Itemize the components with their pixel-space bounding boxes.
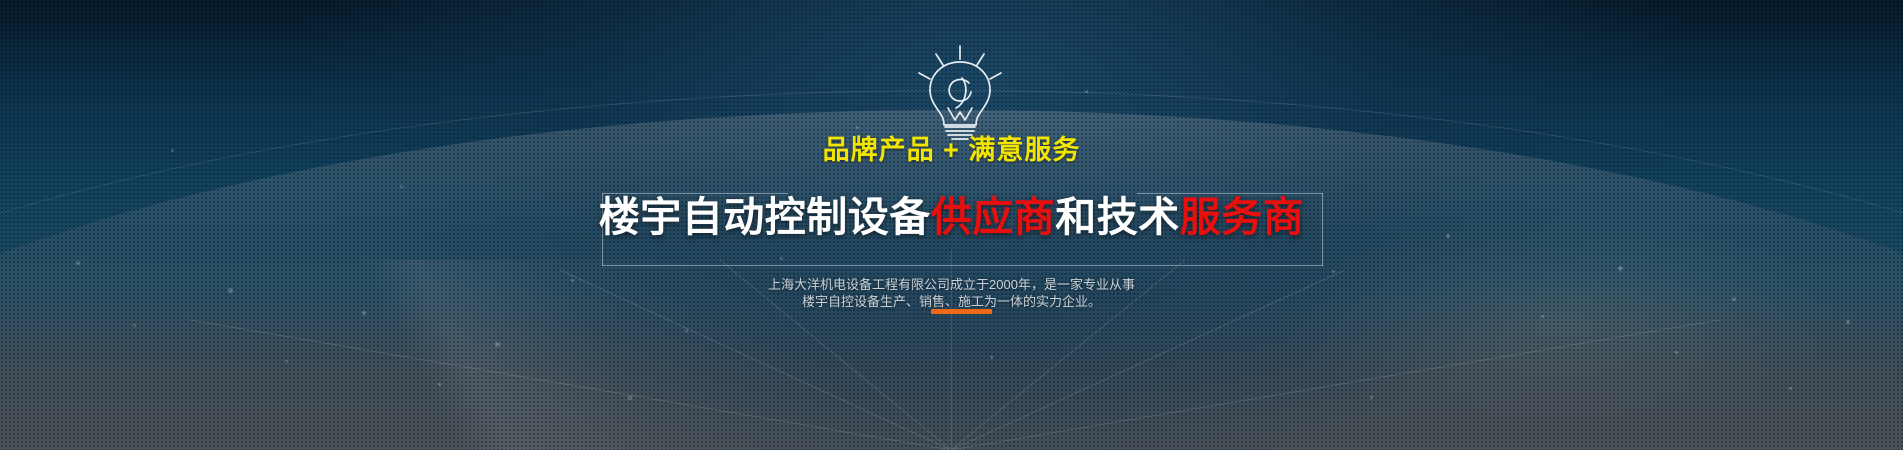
hero-banner: 品牌产品 + 满意服务 楼宇自动控制设备供应商和技术服务商 上海大洋机电设备工程… [0,0,1903,450]
banner-headline: 楼宇自动控制设备供应商和技术服务商 [0,197,1903,238]
headline-part-3: 和技术 [1055,194,1180,240]
headline-highlight-service: 服务商 [1180,194,1305,240]
description-line-2: 楼宇自控设备生产、销售、施工为一体的实力企业。 [0,293,1903,310]
banner-eyebrow-text: 品牌产品 + 满意服务 [0,137,1903,164]
lightbulb-idea-icon [901,42,1019,142]
frame-line-bottom [602,265,1323,266]
description-line-1: 上海大洋机电设备工程有限公司成立于2000年，是一家专业从事 [0,276,1903,293]
headline-part-1: 楼宇自动控制设备 [599,194,931,240]
banner-description: 上海大洋机电设备工程有限公司成立于2000年，是一家专业从事 楼宇自控设备生产、… [0,276,1903,310]
warm-glow-decoration [1283,210,1843,430]
headline-highlight-supplier: 供应商 [931,194,1056,240]
